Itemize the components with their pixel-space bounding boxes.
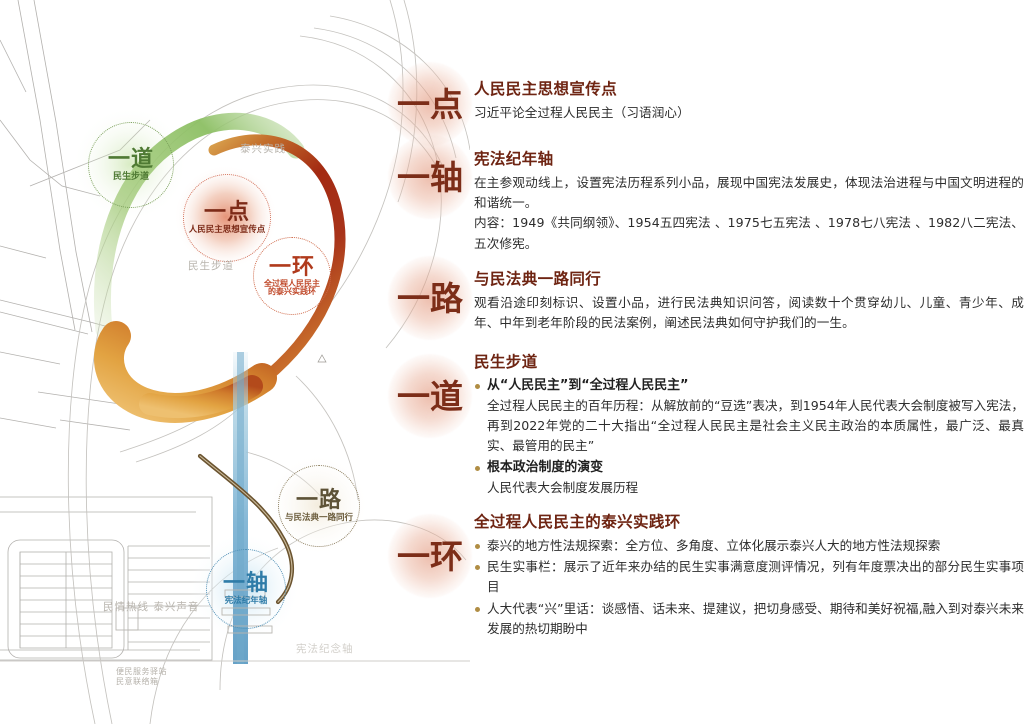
badge-character: 一轴 [397,161,463,194]
callout-title: 一路 [296,489,342,512]
section-badge[interactable]: 一环 [378,514,482,598]
section-body: 全过程人民民主的泰兴实践环 泰兴的地方性法规探索：全方位、多角度、立体化展示泰兴… [474,500,1024,641]
bullet-text: 民生实事栏：展示了近年来办结的民生实事满意度测评情况，列有年度票决出的部分民生实… [487,557,1024,598]
plan-callout-min-sheng-bu-dao[interactable]: 一道 民生步道 [88,122,174,208]
bullet-text: 人大代表“兴”里话：谈感悟、话未来、提建议，把切身感受、期待和美好祝福,融入到对… [487,599,1024,640]
list-item: 泰兴的地方性法规探索：全方位、多角度、立体化展示泰兴人大的地方性法规探索 [474,536,1024,556]
bullet-text: 泰兴的地方性法规探索：全方位、多角度、立体化展示泰兴人大的地方性法规探索 [487,536,1024,556]
section-paragraph: 习近平论全过程人民民主（习语润心） [474,103,1024,123]
bullet-list: 泰兴的地方性法规探索：全方位、多角度、立体化展示泰兴人大的地方性法规探索 民生实… [474,536,1024,640]
section-heading: 宪法纪年轴 [474,150,1024,169]
plan-label-hotline-voice: 民情热线 泰兴声音 [103,599,199,614]
section-badge[interactable]: 一轴 [378,135,482,219]
callout-subtitle: 全过程人民民主 的泰兴实践环 [264,280,320,297]
plan-callout-yi-lu-tong-xing[interactable]: 一路 与民法典一路同行 [278,465,360,547]
poster-root: 一道 民生步道 一点 人民民主思想宣传点 一环 全过程人民民主 的泰兴实践环 一… [0,0,1024,724]
callout-subtitle: 人民民主思想宣传点 [189,226,266,235]
bullet-dot-icon [475,544,480,549]
section-heading: 人民民主思想宣传点 [474,80,1024,99]
section-body: 民生步道 从“人民民主”到“全过程人民民主” 全过程人民民主的百年历程：从解放前… [474,340,1024,499]
callout-title: 一点 [204,201,250,224]
section-heading: 民生步道 [474,353,1024,372]
callout-subtitle: 宪法纪年轴 [225,597,268,606]
callout-title: 一环 [269,256,315,279]
bullet-dot-icon [475,384,480,389]
badge-character: 一点 [397,88,463,121]
plan-marker [318,355,326,362]
plan-label-constitution-memorial-axis: 宪法纪念轴 [296,641,354,656]
list-item: 民生实事栏：展示了近年来办结的民生实事满意度测评情况，列有年度票决出的部分民生实… [474,557,1024,598]
plan-callout-xian-fa-ji-nian-zhou[interactable]: 一轴 宪法纪年轴 [206,549,286,629]
bullet-dot-icon [475,607,480,612]
section-badge[interactable]: 一道 [378,354,482,438]
list-item: 根本政治制度的演变 人民代表大会制度发展历程 [474,458,1024,498]
section-badge[interactable]: 一点 [378,62,482,146]
section-paragraph: 观看沿途印刻标识、设置小品，进行民法典知识问答，阅读数十个贯穿幼儿、儿童、青少年… [474,293,1024,334]
callout-title: 一轴 [223,572,269,595]
section-body: 与民法典一路同行 观看沿途印刻标识、设置小品，进行民法典知识问答，阅读数十个贯穿… [474,256,1024,333]
bullet-dot-icon [475,466,480,471]
section-paragraph-2: 内容：1949《共同纲领》、1954五四宪法 、1975七五宪法 、1978七八… [474,213,1024,254]
plan-label-opinion-box: 民意联络箱 [116,676,159,687]
plan-label-minsheng-walkway: 民生步道 [188,258,234,273]
badge-character: 一道 [397,380,463,413]
bullet-dot-icon [475,565,480,570]
bullet-list: 从“人民民主”到“全过程人民民主” 全过程人民民主的百年历程：从解放前的“豆选”… [474,376,1024,499]
section-body: 人民民主思想宣传点 习近平论全过程人民民主（习语润心） [474,62,1024,123]
plan-callout-xuan-chuan-dian[interactable]: 一点 人民民主思想宣传点 [183,174,271,262]
callout-title: 一道 [108,148,154,171]
sections-list: 一点 人民民主思想宣传点 习近平论全过程人民民主（习语润心） 一轴 宪法纪年轴 … [378,0,1024,724]
bullet-title: 从“人民民主”到“全过程人民民主” [487,376,1024,396]
callout-subtitle: 与民法典一路同行 [285,514,353,523]
section-heading: 全过程人民民主的泰兴实践环 [474,513,1024,532]
badge-character: 一环 [397,540,463,573]
bullet-title: 根本政治制度的演变 [487,458,1024,478]
plan-callout-shi-jian-huan[interactable]: 一环 全过程人民民主 的泰兴实践环 [253,237,331,315]
section-heading: 与民法典一路同行 [474,270,1024,289]
bullet-text: 全过程人民民主的百年历程：从解放前的“豆选”表决，到1954年人民代表大会制度被… [487,396,1024,457]
callout-subtitle: 民生步道 [113,173,149,182]
bullet-text: 人民代表大会制度发展历程 [487,478,1024,498]
plan-label-taixing-practice: 泰兴实践 [240,141,286,156]
badge-character: 一路 [397,282,463,315]
list-item: 人大代表“兴”里话：谈感悟、话未来、提建议，把切身感受、期待和美好祝福,融入到对… [474,599,1024,640]
section-badge[interactable]: 一路 [378,256,482,340]
section-body: 宪法纪年轴 在主参观动线上，设置宪法历程系列小品，展现中国宪法发展史，体现法治进… [474,135,1024,254]
section-paragraph: 在主参观动线上，设置宪法历程系列小品，展现中国宪法发展史，体现法治进程与中国文明… [474,173,1024,214]
list-item: 从“人民民主”到“全过程人民民主” 全过程人民民主的百年历程：从解放前的“豆选”… [474,376,1024,457]
